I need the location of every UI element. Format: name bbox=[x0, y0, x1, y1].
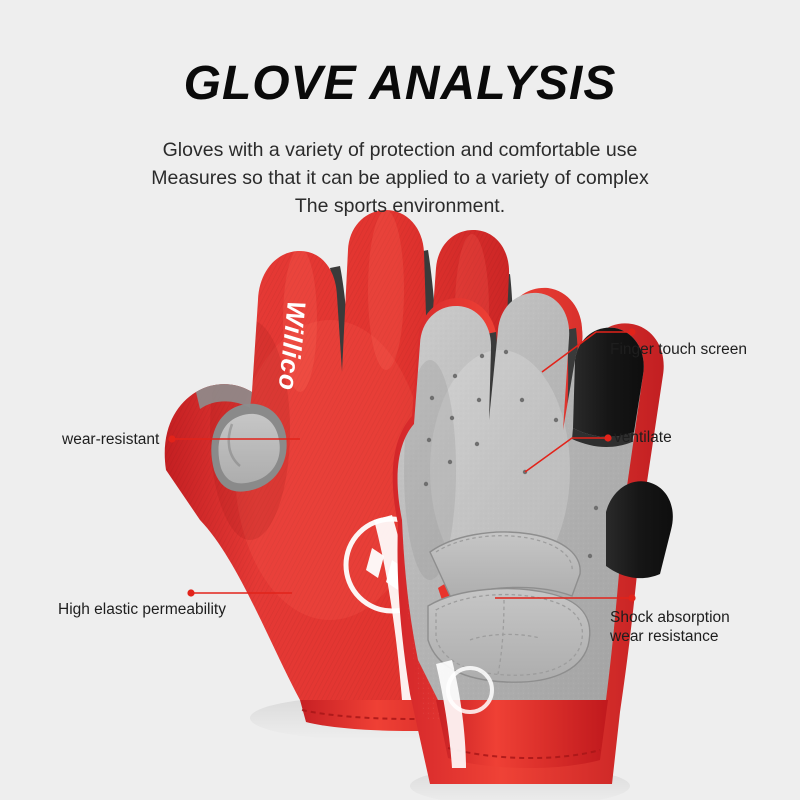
callout-label-wear-resistant: wear-resistant bbox=[62, 430, 159, 449]
callout-wear-resistant: wear-resistant bbox=[62, 430, 159, 449]
callout-ventilate: ventilate bbox=[614, 428, 672, 447]
glove-illustration: Willico bbox=[0, 0, 800, 800]
callout-shock-absorption: Shock absorption wear resistance bbox=[610, 608, 730, 646]
callout-label-finger-touch-screen: Finger touch screen bbox=[610, 340, 747, 359]
callout-label-shock-absorption-line-1: Shock absorption bbox=[610, 608, 730, 627]
callout-high-elastic-permeability: High elastic permeability bbox=[58, 600, 226, 619]
callout-finger-touch-screen: Finger touch screen bbox=[610, 340, 747, 359]
subtitle-line-1: Gloves with a variety of protection and … bbox=[100, 136, 700, 164]
callout-label-high-elastic-permeability: High elastic permeability bbox=[58, 600, 226, 619]
page-title: GLOVE ANALYSIS bbox=[0, 56, 800, 111]
page-subtitle: Gloves with a variety of protection and … bbox=[100, 136, 700, 220]
subtitle-line-3: The sports environment. bbox=[100, 192, 700, 220]
subtitle-line-2: Measures so that it can be applied to a … bbox=[100, 164, 700, 192]
touchscreen-tip-thumb bbox=[606, 481, 673, 578]
infographic-canvas: Willico bbox=[0, 0, 800, 800]
callout-label-ventilate: ventilate bbox=[614, 428, 672, 447]
callout-label-shock-absorption-line-2: wear resistance bbox=[610, 627, 730, 646]
